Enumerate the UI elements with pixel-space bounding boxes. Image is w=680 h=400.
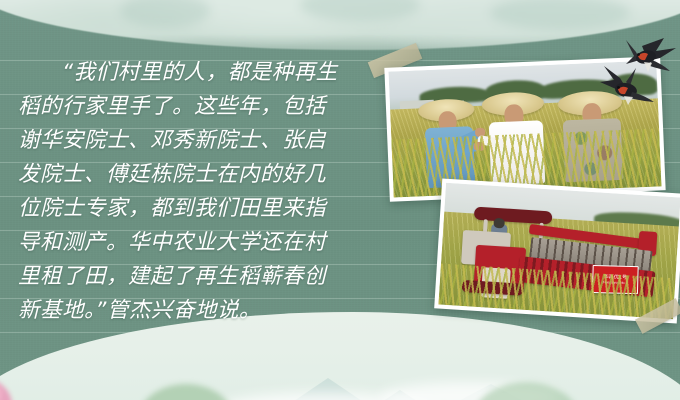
driver-head <box>493 218 505 229</box>
swallow-icon <box>600 66 654 105</box>
swallow-icon <box>626 38 676 72</box>
poster-canvas: 华再优1号 Huazaiyou No.1 <box>0 0 680 400</box>
tree-shape <box>138 384 234 400</box>
quote-text: “我们村里的人，都是种再生 稻的行家里手了。这些年，包括 谢华安院士、邓秀新院士… <box>18 56 368 328</box>
photo-harvester-image: 华再优1号 Huazaiyou No.1 <box>438 183 680 320</box>
swallows-decoration <box>596 34 680 114</box>
photo-harvester[interactable]: 华再优1号 Huazaiyou No.1 <box>434 178 680 323</box>
